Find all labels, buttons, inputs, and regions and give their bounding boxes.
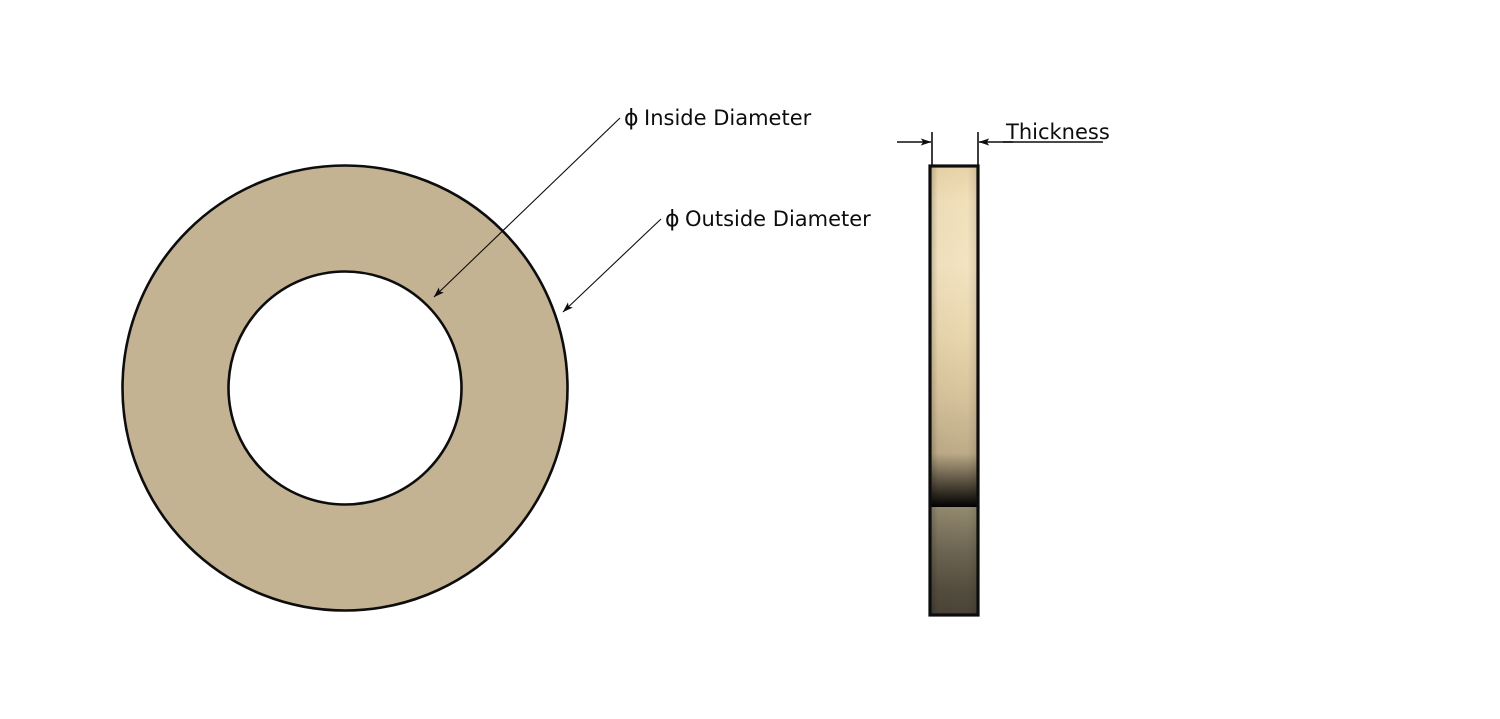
washer-inner-hole-circle	[229, 272, 462, 505]
thickness-dimension: Thickness	[897, 120, 1110, 166]
outside-diameter-label-text: Outside Diameter	[685, 207, 871, 231]
washer-technical-drawing: ϕ Inside Diameter ϕ Outside Diameter Thi…	[0, 0, 1500, 719]
washer-side-view	[930, 166, 978, 615]
outside-diameter-leader-line	[563, 219, 661, 312]
thickness-label-text: Thickness	[1005, 120, 1110, 144]
outside-diameter-phi-icon: ϕ	[665, 207, 680, 232]
outside-diameter-leader	[563, 219, 661, 312]
inside-diameter-label-text: Inside Diameter	[644, 106, 812, 130]
inside-diameter-label: ϕ Inside Diameter	[624, 106, 812, 131]
outside-diameter-label: ϕ Outside Diameter	[665, 207, 871, 232]
side-view-edge-shading	[932, 168, 977, 614]
inside-diameter-phi-icon: ϕ	[624, 106, 639, 131]
